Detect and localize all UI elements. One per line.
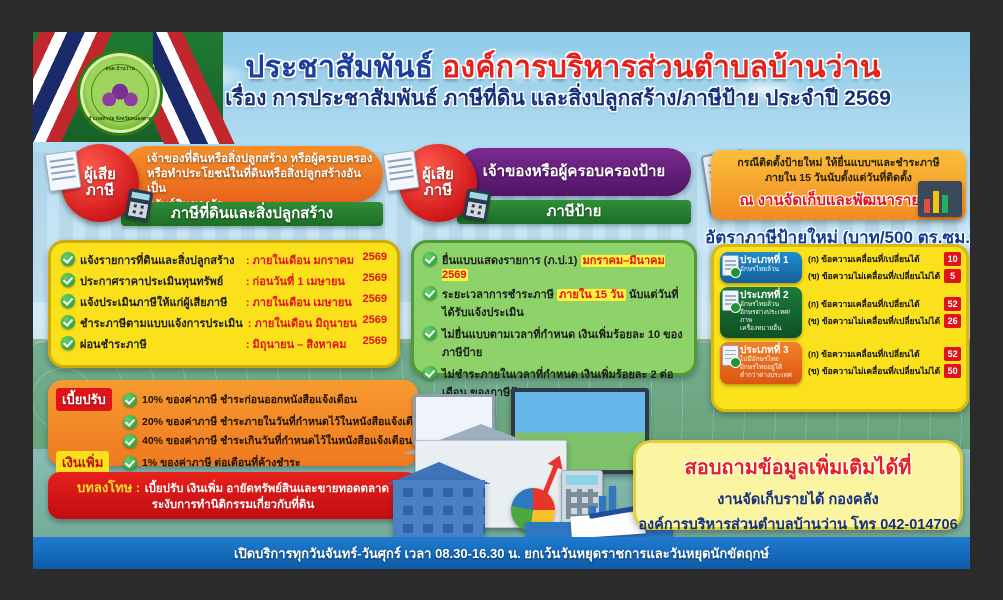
sign-type-subtitle: ไม่มีอักษรไทย อักษรไทยอยู่ใต้ ต่ำกว่าต่า… xyxy=(740,356,798,380)
penalty-text: 40% ของค่าภาษี ชำระเกินวันที่กำหนดไว้ในห… xyxy=(142,432,412,449)
sign-rate-row: ประเภทที่ 1อักษรไทยล้วน(ก) ข้อความเคลื่อ… xyxy=(720,252,960,283)
sign-rate-option-text: (ก) ข้อความเคลื่อนที่/เปลี่ยนได้ xyxy=(808,297,920,311)
sign-type-cell: ประเภทที่ 2อักษรไทยล้วน อักษรต่างประเทศ/… xyxy=(720,287,802,338)
land-tax-name-bar: ภาษีที่ดินและสิ่งปลูกสร้าง xyxy=(121,202,383,226)
sign-type-title: ประเภทที่ 2 xyxy=(740,290,798,301)
sign-rate-options: (ก) ข้อความเคลื่อนที่/เปลี่ยนได้10(ข) ข้… xyxy=(808,252,961,283)
check-icon xyxy=(123,393,137,407)
sign-rate-option-text: (ข) ข้อความไม่เคลื่อนที่/เปลี่ยนไม่ได้ xyxy=(808,269,940,283)
check-icon xyxy=(123,415,137,429)
land-taxpayer-badge: ผู้เสีย ภาษี xyxy=(61,144,139,222)
sign-rule-row: ยื่นแบบแสดงรายการ (ภ.ป.1) มกราคม–มีนาคม … xyxy=(423,251,685,281)
check-icon xyxy=(61,252,75,266)
sign-rule-text: ระยะเวลาการชำระภาษี ภายใน 15 วัน นับแต่ว… xyxy=(442,285,685,321)
sign-rule-highlight: ภายใน 15 วัน xyxy=(557,289,626,301)
schedule-year: 2569 xyxy=(363,272,387,284)
contact-box: สอบถามข้อมูลเพิ่มเติมได้ที่ งานจัดเก็บรา… xyxy=(633,440,963,530)
check-icon xyxy=(123,434,137,448)
new-sign-note-box: กรณีติดตั้งป้ายใหม่ ให้ยื่นแบบฯและชำระภา… xyxy=(711,150,966,220)
sign-badge-line2: ภาษี xyxy=(424,183,452,199)
schedule-year: 2569 xyxy=(363,293,387,305)
title-part1: ประชาสัมพันธ์ xyxy=(245,51,433,84)
sign-taxpayer-description-pill: เจ้าของหรือผู้ครอบครองป้าย xyxy=(457,148,691,196)
sign-type-subtitle: อักษรไทยล้วน อักษรต่างประเทศ/ภาพ เครื่อง… xyxy=(740,301,798,334)
schedule-label: ประกาศราคาประเมินทุนทรัพย์ xyxy=(80,272,241,290)
penalty-panel: เบี้ยปรับ10% ของค่าภาษี ชำระก่อนออกหนังส… xyxy=(48,380,418,466)
clipboard-check-icon xyxy=(722,255,739,276)
emblem-motif-icon xyxy=(102,80,138,106)
sign-rate-option: (ข) ข้อความไม่เคลื่อนที่/เปลี่ยนไม่ได้5 xyxy=(808,269,961,283)
sign-rule-row: ไม่ยื่นแบบตามเวลาที่กำหนด เงินเพิ่มร้อยล… xyxy=(423,325,685,361)
sign-rate-table: ประเภทที่ 1อักษรไทยล้วน(ก) ข้อความเคลื่อ… xyxy=(711,244,969,412)
surcharge-row: เงินเพิ่ม1% ของค่าภาษี ต่อเดือนที่ค้างชำ… xyxy=(56,451,410,474)
sign-rate-option-text: (ก) ข้อความเคลื่อนที่/เปลี่ยนได้ xyxy=(808,252,920,266)
penalty-text: 10% ของค่าภาษี ชำระก่อนออกหนังสือแจ้งเตื… xyxy=(142,391,357,408)
sign-rate-value: 26 xyxy=(944,314,961,328)
schedule-year: 2569 xyxy=(363,251,387,263)
law-tag: บทลงโทษ : xyxy=(77,480,140,495)
calculator-icon xyxy=(125,188,154,222)
contact-heading: สอบถามข้อมูลเพิ่มเติมได้ที่ xyxy=(636,451,960,483)
organization-emblem: อบต.บ้านว่าน อำเภอท่าบ่อ จังหวัดหนองคาย xyxy=(77,50,163,136)
sign-type-cell: ประเภทที่ 3ไม่มีอักษรไทย อักษรไทยอยู่ใต้… xyxy=(720,342,802,384)
land-badge-line1: ผู้เสีย xyxy=(84,167,116,183)
sign-rate-option: (ก) ข้อความเคลื่อนที่/เปลี่ยนได้10 xyxy=(808,252,961,266)
schedule-deadline: : ภายในเดือน มิถุนายน xyxy=(248,314,358,332)
footer-hours: เปิดบริการทุกวันจันทร์-วันศุกร์ เวลา 08.… xyxy=(234,543,769,564)
calculator-icon xyxy=(463,188,492,222)
check-icon xyxy=(61,315,75,329)
sign-type-title: ประเภทที่ 3 xyxy=(740,345,798,356)
title-part2: องค์การบริหารส่วนตำบลบ้านว่าน xyxy=(442,51,881,84)
check-icon xyxy=(61,336,75,350)
monitor-chart-icon xyxy=(918,181,962,217)
sign-rate-option-text: (ข) ข้อความไม่เคลื่อนที่/เปลี่ยนไม่ได้ xyxy=(808,364,940,378)
sign-rate-option-text: (ข) ข้อความไม่เคลื่อนที่/เปลี่ยนไม่ได้ xyxy=(808,314,940,328)
check-icon xyxy=(61,273,75,287)
schedule-deadline: : ก่อนวันที่ 1 เมษายน xyxy=(246,272,358,290)
penalty-row: 20% ของค่าภาษี ชำระภายในวันที่กำหนดไว้ใน… xyxy=(56,413,410,430)
sign-rate-value: 52 xyxy=(944,347,961,361)
land-schedule-row: ชำระภาษีตามแบบแจ้งการประเมิน: ภายในเดือน… xyxy=(61,314,387,332)
sign-taxpayer-description: เจ้าของหรือผู้ครอบครองป้าย xyxy=(483,162,665,182)
apartment-building-icon xyxy=(393,480,485,542)
schedule-deadline: : มิถุนายน – สิงหาคม xyxy=(246,335,358,353)
penalty-row: 40% ของค่าภาษี ชำระเกินวันที่กำหนดไว้ในห… xyxy=(56,432,410,449)
emblem-bottom-text: อำเภอท่าบ่อ จังหวัดหนองคาย xyxy=(80,115,160,123)
sign-rate-option: (ก) ข้อความเคลื่อนที่/เปลี่ยนได้52 xyxy=(808,347,961,361)
sign-rule-row: ระยะเวลาการชำระภาษี ภายใน 15 วัน นับแต่ว… xyxy=(423,285,685,321)
sign-rules-panel: ยื่นแบบแสดงรายการ (ภ.ป.1) มกราคม–มีนาคม … xyxy=(411,240,697,376)
clipboard-check-icon xyxy=(722,345,739,366)
sign-rate-option: (ข) ข้อความไม่เคลื่อนที่/เปลี่ยนไม่ได้50 xyxy=(808,364,961,378)
schedule-year: 2569 xyxy=(363,335,387,347)
schedule-label: ชำระภาษีตามแบบแจ้งการประเมิน xyxy=(80,314,243,332)
check-icon xyxy=(123,456,137,470)
poster-canvas: อบต.บ้านว่าน อำเภอท่าบ่อ จังหวัดหนองคาย … xyxy=(33,32,970,569)
sign-rate-option: (ก) ข้อความเคลื่อนที่/เปลี่ยนได้52 xyxy=(808,297,961,311)
sign-type-cell: ประเภทที่ 1อักษรไทยล้วน xyxy=(720,252,802,283)
check-icon xyxy=(61,294,75,308)
fine-tag: เบี้ยปรับ xyxy=(56,388,112,411)
sign-tax-name-bar: ภาษีป้าย xyxy=(457,200,691,224)
land-schedule-panel: แจ้งรายการที่ดินและสิ่งปลูกสร้าง: ภายในเ… xyxy=(48,240,400,368)
land-schedule-row: แจ้งประเมินภาษีให้แก่ผู้เสียภาษี: ภายในเ… xyxy=(61,293,387,311)
clipboard-check-icon xyxy=(722,290,739,311)
check-icon xyxy=(423,326,437,340)
schedule-year: 2569 xyxy=(363,314,387,326)
law-line2: ระงับการทำนิติกรรมเกี่ยวกับที่ดิน xyxy=(56,498,410,514)
law-line1: เบี้ยปรับ เงินเพิ่ม อายัดทรัพย์สินและขาย… xyxy=(145,483,389,495)
sign-rate-options: (ก) ข้อความเคลื่อนที่/เปลี่ยนได้52(ข) ข้… xyxy=(808,342,961,384)
land-schedule-row: ประกาศราคาประเมินทุนทรัพย์: ก่อนวันที่ 1… xyxy=(61,272,387,290)
sign-rule-text: ไม่ยื่นแบบตามเวลาที่กำหนด เงินเพิ่มร้อยล… xyxy=(442,325,685,361)
sign-rate-option-text: (ก) ข้อความเคลื่อนที่/เปลี่ยนได้ xyxy=(808,347,920,361)
penalty-text: 20% ของค่าภาษี ชำระภายในวันที่กำหนดไว้ใน… xyxy=(142,413,426,430)
new-sign-note-line1: กรณีติดตั้งป้ายใหม่ ให้ยื่นแบบฯและชำระภา… xyxy=(711,156,966,171)
sign-rate-options: (ก) ข้อความเคลื่อนที่/เปลี่ยนได้52(ข) ข้… xyxy=(808,287,961,338)
schedule-label: ผ่อนชำระภาษี xyxy=(80,335,241,353)
sign-rate-value: 50 xyxy=(944,364,961,378)
emblem-top-text: อบต.บ้านว่าน xyxy=(80,65,160,73)
sign-rate-option: (ข) ข้อความไม่เคลื่อนที่/เปลี่ยนไม่ได้26 xyxy=(808,314,961,328)
sign-rate-row: ประเภทที่ 2อักษรไทยล้วน อักษรต่างประเทศ/… xyxy=(720,287,960,338)
document-icon xyxy=(383,150,420,192)
land-taxpayer-description-pill: เจ้าของที่ดินหรือสิ่งปลูกสร้าง หรือผู้คร… xyxy=(121,146,383,202)
check-icon xyxy=(423,366,437,380)
sign-rate-value: 5 xyxy=(944,269,961,283)
land-schedule-row: ผ่อนชำระภาษี: มิถุนายน – สิงหาคม2569 xyxy=(61,335,387,353)
surcharge-text: 1% ของค่าภาษี ต่อเดือนที่ค้างชำระ xyxy=(142,454,301,471)
sign-rate-row: ประเภทที่ 3ไม่มีอักษรไทย อักษรไทยอยู่ใต้… xyxy=(720,342,960,384)
sign-type-title: ประเภทที่ 1 xyxy=(740,255,798,266)
surcharge-tag: เงินเพิ่ม xyxy=(56,451,109,474)
contact-org: องค์การบริหารส่วนตำบลบ้านว่าน โทร 042-01… xyxy=(636,513,960,536)
sign-type-subtitle: อักษรไทยล้วน xyxy=(740,266,798,274)
sign-taxpayer-badge: ผู้เสีย ภาษี xyxy=(399,144,477,222)
schedule-deadline: : ภายในเดือน เมษายน xyxy=(246,293,358,311)
page-subtitle: เรื่อง การประชาสัมพันธ์ ภาษีที่ดิน และสิ… xyxy=(163,82,953,115)
land-badge-line2: ภาษี xyxy=(86,183,114,199)
sign-rate-value: 52 xyxy=(944,297,961,311)
land-schedule-row: แจ้งรายการที่ดินและสิ่งปลูกสร้าง: ภายในเ… xyxy=(61,251,387,269)
check-icon xyxy=(423,252,437,266)
law-penalty-bar: บทลงโทษ : เบี้ยปรับ เงินเพิ่ม อายัดทรัพย… xyxy=(48,472,418,519)
check-icon xyxy=(423,286,437,300)
footer-bar: เปิดบริการทุกวันจันทร์-วันศุกร์ เวลา 08.… xyxy=(33,537,970,569)
document-icon xyxy=(45,150,82,192)
poster-header: อบต.บ้านว่าน อำเภอท่าบ่อ จังหวัดหนองคาย … xyxy=(33,32,970,132)
sign-rate-value: 10 xyxy=(944,252,961,266)
sign-badge-line1: ผู้เสีย xyxy=(422,167,454,183)
schedule-deadline: : ภายในเดือน มกราคม xyxy=(246,251,358,269)
schedule-label: แจ้งประเมินภาษีให้แก่ผู้เสียภาษี xyxy=(80,293,241,311)
sign-rule-text: ยื่นแบบแสดงรายการ (ภ.ป.1) มกราคม–มีนาคม … xyxy=(442,251,685,281)
contact-office: งานจัดเก็บรายได้ กองคลัง xyxy=(636,488,960,511)
penalty-row: เบี้ยปรับ10% ของค่าภาษี ชำระก่อนออกหนังส… xyxy=(56,388,410,411)
schedule-label: แจ้งรายการที่ดินและสิ่งปลูกสร้าง xyxy=(80,251,241,269)
